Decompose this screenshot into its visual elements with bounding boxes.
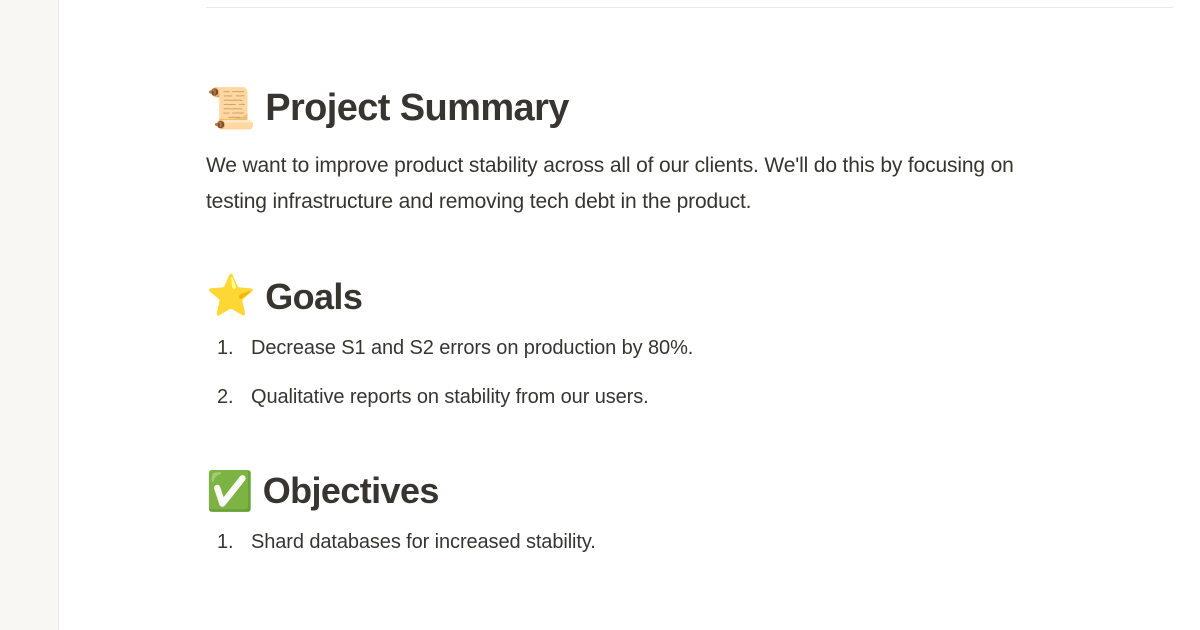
scroll-emoji: 📜 xyxy=(206,89,255,129)
document-main-area: 📜 Project Summary We want to improve pro… xyxy=(59,0,1200,630)
list-item-marker: 1. xyxy=(217,333,251,363)
list-item-text: Qualitative reports on stability from ou… xyxy=(251,382,1140,412)
heading-goals-label: Goals xyxy=(265,276,362,317)
document-page: 📜 Project Summary We want to improve pro… xyxy=(59,87,1200,557)
check-mark-button-emoji: ✅ xyxy=(206,472,253,510)
heading-goals[interactable]: ⭐ Goals xyxy=(206,276,1140,317)
top-divider xyxy=(206,7,1173,8)
list-item-text: Decrease S1 and S2 errors on production … xyxy=(251,333,1140,363)
list-item-marker: 2. xyxy=(217,382,251,412)
list-item[interactable]: 2. Qualitative reports on stability from… xyxy=(206,382,1140,412)
list-item-marker: 1. xyxy=(217,527,251,557)
heading-project-summary[interactable]: 📜 Project Summary xyxy=(206,87,1140,131)
heading-objectives-label: Objectives xyxy=(263,470,439,511)
objectives-numbered-list: 1. Shard databases for increased stabili… xyxy=(206,527,1140,557)
heading-project-summary-label: Project Summary xyxy=(265,87,569,131)
left-sidebar[interactable] xyxy=(0,0,59,630)
goals-numbered-list: 1. Decrease S1 and S2 errors on producti… xyxy=(206,333,1140,412)
list-item[interactable]: 1. Decrease S1 and S2 errors on producti… xyxy=(206,333,1140,363)
document-app: 📜 Project Summary We want to improve pro… xyxy=(0,0,1200,630)
heading-objectives[interactable]: ✅ Objectives xyxy=(206,470,1140,511)
list-item[interactable]: 1. Shard databases for increased stabili… xyxy=(206,527,1140,557)
star-emoji: ⭐ xyxy=(206,276,255,316)
project-summary-paragraph[interactable]: We want to improve product stability acr… xyxy=(206,148,1051,220)
list-item-text: Shard databases for increased stability. xyxy=(251,527,1140,557)
